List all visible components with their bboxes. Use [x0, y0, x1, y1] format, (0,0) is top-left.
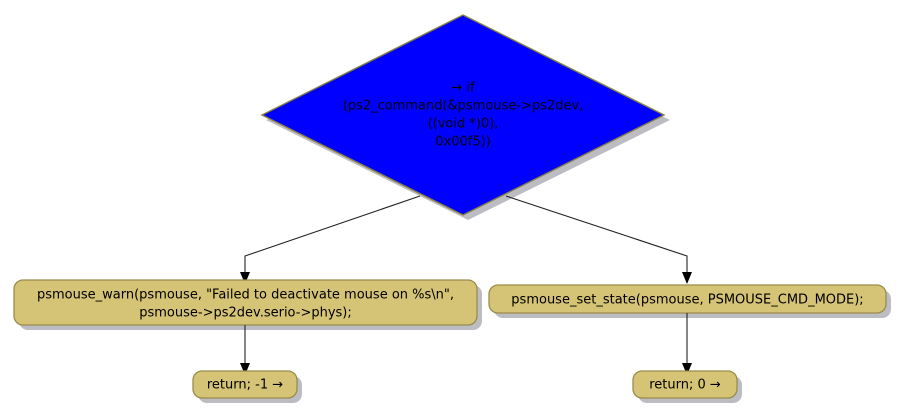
node-activity-psmouse-set-state[interactable]: psmouse_set_state(psmouse, PSMOUSE_CMD_M…	[489, 285, 891, 318]
control-flow-graph: → if (ps2_command(&psmouse->ps2dev, ((vo…	[0, 0, 897, 415]
decision-diamond-shape	[262, 15, 664, 215]
left-activity-label-line-0: psmouse_warn(psmouse, "Failed to deactiv…	[37, 288, 454, 303]
edge-decision-to-right-activity	[506, 196, 692, 284]
node-activity-psmouse-warn[interactable]: psmouse_warn(psmouse, "Failed to deactiv…	[14, 280, 482, 330]
edge-decision-to-right-path	[506, 196, 687, 275]
right-return-label: return; 0 →	[649, 378, 721, 393]
edge-decision-to-right-arrowhead	[682, 272, 692, 284]
edge-decision-to-left-activity	[240, 196, 420, 284]
node-decision-if-ps2-command[interactable]: → if (ps2_command(&psmouse->ps2dev, ((vo…	[262, 15, 670, 220]
left-return-label: return; -1 →	[207, 378, 283, 393]
node-return-zero[interactable]: return; 0 →	[633, 371, 742, 403]
decision-label-line-1: (ps2_command(&psmouse->ps2dev,	[343, 99, 584, 114]
left-activity-label-line-1: psmouse->ps2dev.serio->phys);	[139, 306, 352, 321]
edge-decision-to-left-path	[245, 196, 420, 275]
node-return-minus-one[interactable]: return; -1 →	[193, 371, 302, 403]
edge-right-activity-to-return	[682, 313, 692, 375]
diagram-canvas: → if (ps2_command(&psmouse->ps2dev, ((vo…	[0, 0, 897, 415]
right-activity-label-line-0: psmouse_set_state(psmouse, PSMOUSE_CMD_M…	[511, 293, 863, 308]
decision-label-line-3: 0x00f5))	[435, 135, 491, 150]
decision-label-line-0: → if	[451, 81, 475, 96]
decision-label-line-2: ((void *)0),	[428, 117, 499, 132]
edge-left-activity-to-return	[240, 325, 250, 375]
